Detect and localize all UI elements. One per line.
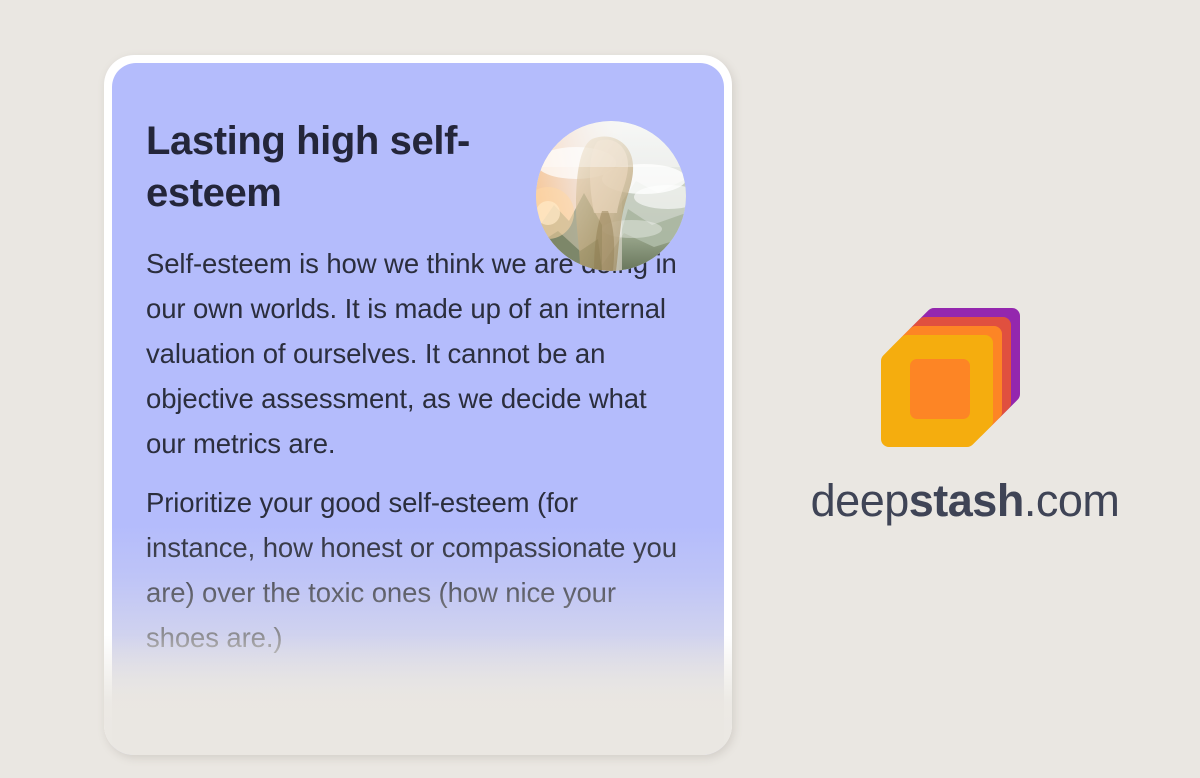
card-thumbnail-image bbox=[536, 121, 686, 271]
idea-card[interactable]: Lasting high self-esteem bbox=[104, 55, 732, 755]
idea-card-surface: Lasting high self-esteem bbox=[112, 63, 724, 755]
card-paragraph-2: Prioritize your good self-esteem (for in… bbox=[146, 480, 690, 660]
page-title: Lasting high self-esteem bbox=[146, 115, 546, 219]
brand-wordmark: deepstash.com bbox=[780, 478, 1150, 523]
card-paragraph-1: Self-esteem is how we think we are doing… bbox=[146, 241, 690, 466]
brand-word-deep: deep bbox=[811, 475, 909, 526]
card-body: Self-esteem is how we think we are doing… bbox=[146, 241, 690, 660]
brand-word-stash: stash bbox=[909, 475, 1024, 526]
screenshot-stage: Lasting high self-esteem bbox=[0, 0, 1200, 778]
brand-block: deepstash.com bbox=[780, 290, 1150, 523]
deepstash-logo-icon bbox=[880, 290, 1050, 460]
brand-word-tld: .com bbox=[1024, 475, 1120, 526]
